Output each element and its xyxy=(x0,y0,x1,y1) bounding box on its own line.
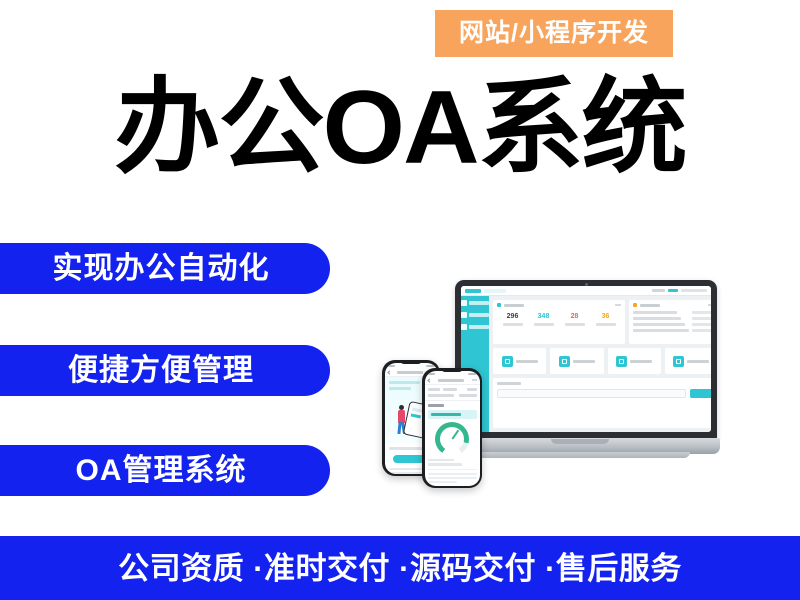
stat-item: 28 xyxy=(559,313,590,326)
detail-line xyxy=(428,459,455,462)
notice-text xyxy=(633,323,685,326)
sidebar-item-3 xyxy=(461,324,489,330)
phone-page-title xyxy=(438,379,464,382)
dashboard-bottom-panel xyxy=(493,378,711,428)
notice-card xyxy=(629,300,711,344)
calendar-icon xyxy=(497,303,501,307)
record-meta-block xyxy=(425,385,480,401)
panel-submit-button xyxy=(690,389,711,398)
quick-action-card xyxy=(665,348,711,374)
stat-label xyxy=(503,323,523,326)
dashboard-nav-chip xyxy=(484,289,506,293)
notice-row xyxy=(633,329,711,332)
more-icon xyxy=(472,379,477,381)
more-icon xyxy=(708,304,711,306)
footer-label: 公司资质 ·准时交付 ·源码交付 ·售后服务 xyxy=(118,553,682,584)
sidebar-item-2-label xyxy=(469,313,489,317)
feature-pill-1-label: 实现办公自动化 xyxy=(53,254,270,284)
bell-icon xyxy=(633,303,637,307)
notice-row xyxy=(633,317,711,320)
datetime-label xyxy=(681,289,707,292)
panel-input-row xyxy=(497,389,711,398)
document-icon xyxy=(502,356,513,367)
promo-banner: 网站/小程序开发 办公OA系统 实现办公自动化 便捷方便管理 OA管理系统 xyxy=(0,0,800,600)
feature-pill-1: 实现办公自动化 xyxy=(0,243,330,294)
stat-item: 348 xyxy=(528,313,559,326)
feature-pill-2-label: 便捷方便管理 xyxy=(68,356,254,386)
battery-icon xyxy=(426,365,435,367)
quick-action-card xyxy=(493,348,546,374)
notice-header xyxy=(633,303,711,307)
headline-text: 办公OA系统 xyxy=(114,76,685,180)
meta-key xyxy=(428,394,454,397)
quick-action-card xyxy=(608,348,661,374)
back-arrow-icon xyxy=(427,378,431,382)
notice-row xyxy=(633,311,711,314)
meta-key xyxy=(428,388,440,391)
dashboard-top-row: 296 348 28 xyxy=(493,300,711,344)
quick-action-label xyxy=(687,360,709,363)
hero-headline xyxy=(389,381,421,384)
front-phone-screen xyxy=(425,371,480,486)
stat-value: 348 xyxy=(528,313,559,320)
notice-text xyxy=(633,329,689,332)
dashboard-body: 296 348 28 xyxy=(461,296,711,432)
dashboard-topbar-right xyxy=(652,289,707,292)
notice-date xyxy=(692,311,711,314)
today-data-header xyxy=(497,303,621,307)
sidebar-item-3-label xyxy=(469,325,489,329)
notice-row xyxy=(633,323,711,326)
laptop-screen: 296 348 28 xyxy=(461,286,711,432)
badge-label: 网站/小程序开发 xyxy=(459,21,649,46)
notice-date xyxy=(692,317,711,320)
battery-icon xyxy=(468,373,477,375)
feature-pill-3: OA管理系统 xyxy=(0,445,330,496)
logout-link xyxy=(668,289,678,292)
meta-row xyxy=(428,388,477,391)
folder-icon xyxy=(461,312,467,318)
clock-label xyxy=(388,365,395,367)
gauge-chart xyxy=(435,422,469,456)
stat-item: 36 xyxy=(590,313,621,326)
quick-action-card xyxy=(550,348,603,374)
briefcase-icon xyxy=(616,356,627,367)
edit-icon xyxy=(673,356,684,367)
laptop-lid: 296 348 28 xyxy=(455,280,717,440)
front-phone-mockup xyxy=(422,368,482,488)
phone-nav-bar xyxy=(425,377,480,385)
notice-text xyxy=(633,317,681,320)
clock-label xyxy=(428,373,435,375)
approval-icon xyxy=(559,356,570,367)
phone-notch xyxy=(441,368,463,372)
note-line xyxy=(428,481,457,483)
panel-text-input xyxy=(497,389,686,398)
phone-notch xyxy=(400,360,422,364)
note-line xyxy=(428,473,477,475)
quick-actions-row xyxy=(493,348,711,374)
meta-key xyxy=(467,388,477,391)
dashboard-content: 296 348 28 xyxy=(489,296,711,432)
quick-action-label xyxy=(516,360,538,363)
meta-value xyxy=(459,394,477,397)
stat-label xyxy=(596,323,616,326)
notice-list xyxy=(633,311,711,332)
badge-website-miniprogram: 网站/小程序开发 xyxy=(435,10,673,57)
meta-value xyxy=(443,388,457,391)
detail-line xyxy=(428,463,462,466)
meta-row xyxy=(428,394,477,397)
notice-date xyxy=(692,329,711,332)
laptop-front-edge xyxy=(470,452,690,458)
dashboard-logo-icon xyxy=(465,289,481,293)
section-title xyxy=(428,404,444,407)
dashboard-topbar xyxy=(461,286,711,296)
stat-value: 36 xyxy=(590,313,621,320)
user-label xyxy=(652,289,665,292)
footer-bar: 公司资质 ·准时交付 ·源码交付 ·售后服务 xyxy=(0,536,800,600)
sidebar-item-1 xyxy=(461,300,489,306)
feature-pill-2: 便捷方便管理 xyxy=(0,345,330,396)
sidebar-item-2 xyxy=(461,312,489,318)
person-head-icon xyxy=(399,405,404,410)
stat-value: 296 xyxy=(497,313,528,320)
chart-icon xyxy=(461,324,467,330)
note-line xyxy=(428,477,477,479)
notice-text xyxy=(633,311,677,314)
note-block xyxy=(428,469,477,483)
stat-value: 28 xyxy=(559,313,590,320)
headline: 办公OA系统 xyxy=(0,68,800,188)
stat-item: 296 xyxy=(497,313,528,326)
stat-list: 296 348 28 xyxy=(497,313,621,326)
highlight-banner xyxy=(428,410,477,419)
quick-action-label xyxy=(630,360,652,363)
back-arrow-icon xyxy=(387,370,391,374)
feature-pill-3-label: OA管理系统 xyxy=(76,456,247,486)
quick-action-label xyxy=(573,360,595,363)
hero-subline xyxy=(389,387,412,390)
highlight-text xyxy=(431,413,461,416)
device-mockup-cluster: 296 348 28 xyxy=(360,280,730,505)
notice-date xyxy=(692,323,711,326)
laptop-mockup: 296 348 28 xyxy=(440,280,720,480)
gauge-needle xyxy=(451,429,459,439)
stat-label xyxy=(534,323,554,326)
person-body-icon xyxy=(398,410,405,423)
stat-label xyxy=(565,323,585,326)
grid-icon xyxy=(461,300,467,306)
sidebar-item-1-label xyxy=(469,301,489,305)
today-data-card: 296 348 28 xyxy=(493,300,625,344)
panel-title xyxy=(497,382,521,385)
detail-rows xyxy=(428,459,477,466)
more-icon xyxy=(615,304,621,306)
notice-title xyxy=(640,304,660,307)
today-data-title xyxy=(504,304,524,307)
phone-page-title xyxy=(397,371,423,374)
